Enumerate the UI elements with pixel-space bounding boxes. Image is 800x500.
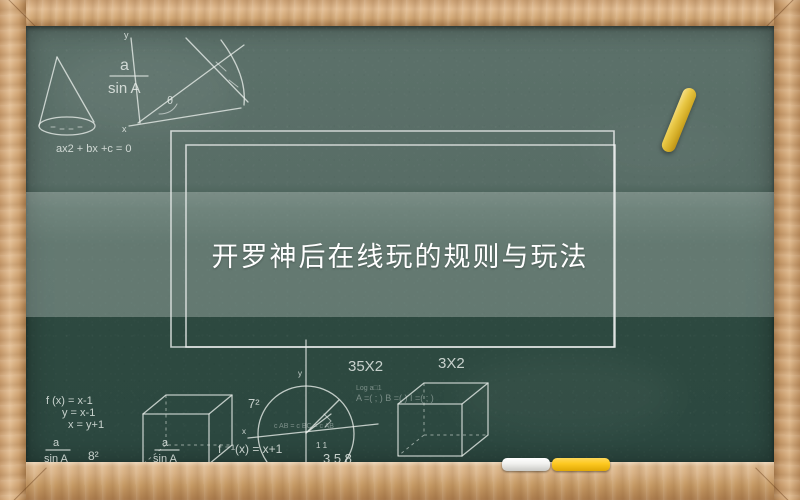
blackboard-surface: .ck { fill:none; stroke:#e9eeea; stroke-…: [26, 26, 774, 462]
title-container: 开罗神后在线玩的规则与玩法: [26, 192, 774, 317]
white-chalk-stick[interactable]: [502, 458, 550, 471]
frame-bottom-ledge: [0, 462, 800, 500]
frame-left-rail: [0, 0, 26, 500]
yellow-chalk-stick[interactable]: [552, 458, 610, 471]
page-title: 开罗神后在线玩的规则与玩法: [212, 235, 589, 274]
screenshot-root: .ck { fill:none; stroke:#e9eeea; stroke-…: [0, 0, 800, 500]
frame-top-rail: [0, 0, 800, 26]
frame-right-rail: [774, 0, 800, 500]
